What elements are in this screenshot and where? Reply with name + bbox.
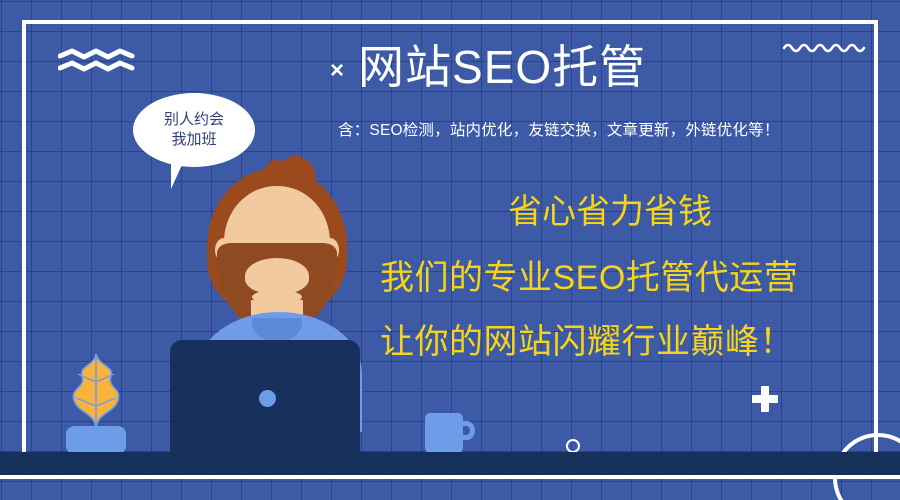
close-icon: × (330, 59, 344, 83)
speech-bubble-line-2: 我加班 (171, 130, 216, 150)
desk-surface (0, 452, 900, 475)
tagline-3: 让你的网站闪耀行业巅峰！ (380, 325, 880, 359)
desk-edge-line (0, 475, 900, 479)
potted-plant-icon (56, 352, 136, 432)
laptop-logo-dot (259, 390, 276, 407)
title-text: 网站SEO托管 (358, 44, 646, 90)
seo-promo-banner: 别人约会 我加班 × 网站SEO托管 含：SEO检测，站内优化，友链交换，文章更… (0, 0, 900, 500)
tagline-group: 省心省力省钱 我们的专业SEO托管代运营 让你的网站闪耀行业巅峰！ (380, 195, 880, 359)
cheeks-shape (245, 258, 309, 294)
plant-pot (66, 426, 126, 454)
page-title: × 网站SEO托管 (330, 44, 890, 90)
tagline-1: 省心省力省钱 (380, 195, 880, 229)
tagline-2: 我们的专业SEO托管代运营 (380, 261, 880, 295)
subtitle-text: 含：SEO检测，站内优化，友链交换，文章更新，外链优化等！ (338, 118, 890, 140)
coffee-mug-icon (425, 413, 463, 455)
speech-bubble: 别人约会 我加班 (133, 93, 255, 167)
speech-bubble-line-1: 别人约会 (164, 110, 224, 130)
